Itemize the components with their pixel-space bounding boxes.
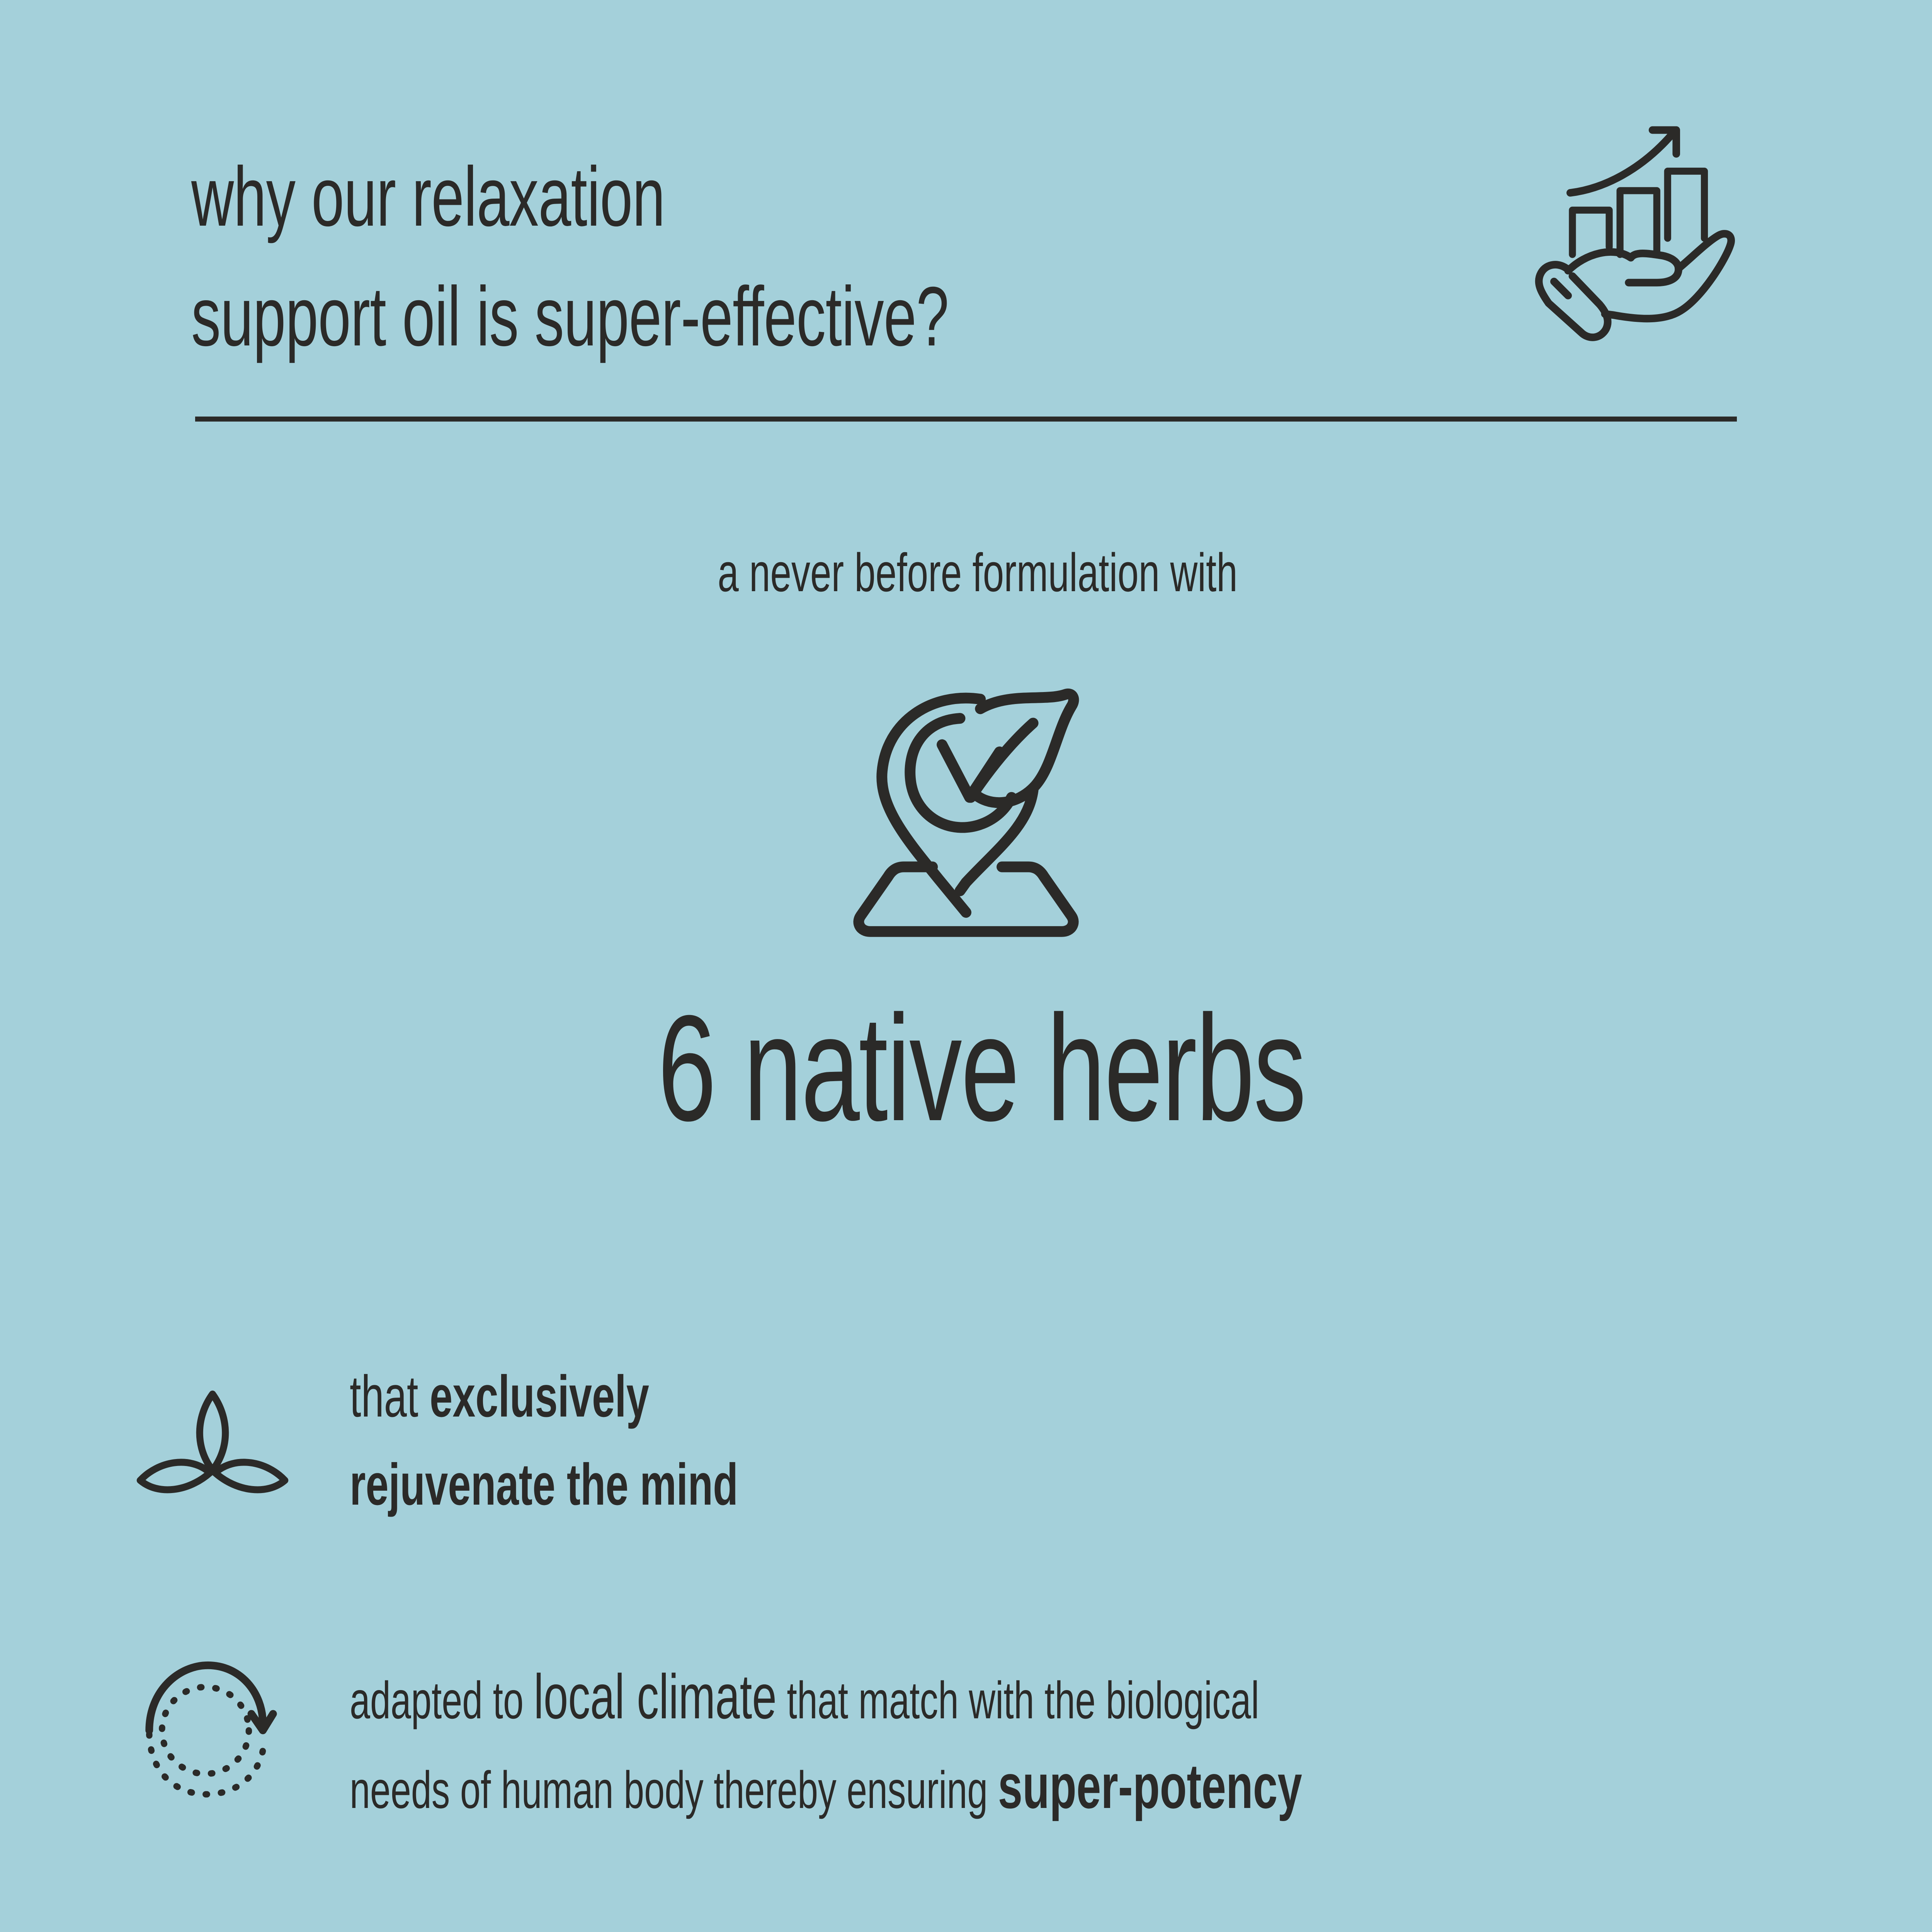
bullet-2-line-1-c: that match with the biological: [777, 1671, 1259, 1730]
highlight-text: 6 native herbs: [294, 989, 1668, 1148]
location-pin-leaf-check-icon: [846, 672, 1086, 943]
bullet-2-text: adapted to local climate that match with…: [350, 1652, 1302, 1831]
circular-cycle-arrow-icon: [128, 1658, 278, 1801]
bullet-2-line-2-b: super-potency: [998, 1751, 1302, 1821]
bullet-2-line-1-a: adapted to: [350, 1671, 534, 1730]
bullet-1-line-1: that exclusively: [350, 1352, 738, 1440]
bullet-2-line-2-a: needs of human body thereby ensuring: [350, 1760, 998, 1819]
bullet-2-line-2: needs of human body thereby ensuring sup…: [350, 1742, 1302, 1831]
header-divider: [195, 417, 1737, 422]
hand-holding-growth-chart-icon: [1520, 116, 1737, 340]
bullet-1-line-1-b: exclusively: [430, 1364, 649, 1429]
three-petal-leaf-icon: [129, 1381, 296, 1511]
subtitle: a never before formulation with: [293, 540, 1662, 605]
infographic-canvas: why our relaxation support oil is super-…: [0, 0, 1932, 1932]
bullet-1-text: that exclusively rejuvenate the mind: [350, 1352, 738, 1529]
bullet-2-line-1: adapted to local climate that match with…: [350, 1652, 1302, 1742]
bullet-2-line-1-b: local climate: [534, 1661, 777, 1732]
headline-line-1: why our relaxation: [191, 137, 1084, 257]
headline-line-2: support oil is super-effective?: [191, 257, 1084, 377]
bullet-1-line-2: rejuvenate the mind: [350, 1440, 738, 1529]
page-title: why our relaxation support oil is super-…: [191, 137, 1084, 376]
bullet-1-line-1-a: that: [350, 1364, 430, 1429]
